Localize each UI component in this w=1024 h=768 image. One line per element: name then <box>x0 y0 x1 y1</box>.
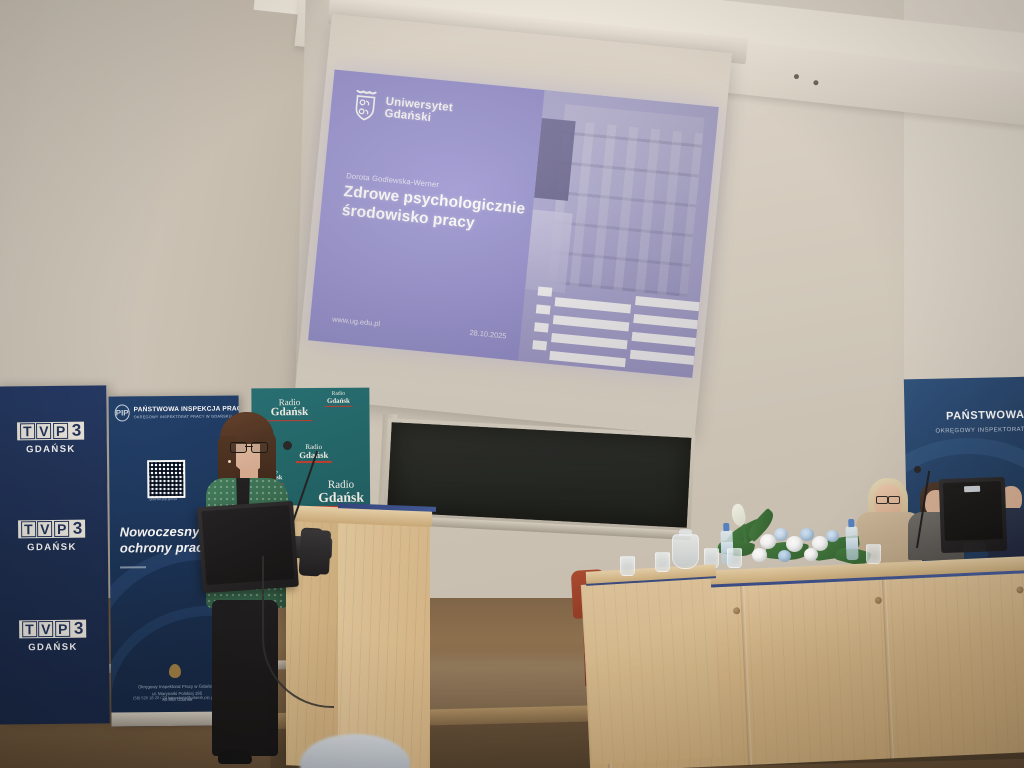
panel-microphone-head <box>914 466 921 473</box>
tvp3-logo: TVP3 GDAŃSK <box>17 422 85 456</box>
university-logo: Uniwersytet Gdański <box>352 90 454 130</box>
left-wall <box>0 0 330 420</box>
slide-title: Zdrowe psychologicznie środowisko pracy <box>341 183 554 240</box>
tvp3-logo: TVP3 GDAŃSK <box>19 620 87 654</box>
lecture-hall-photo: Uniwersytet Gdański Dorota Godlewska-Wer… <box>0 0 1024 768</box>
banner-tvp3-gdansk: TVP3 GDAŃSK TVP3 GDAŃSK TVP3 GDAŃSK <box>0 385 110 724</box>
slide-date: 28.10.2025 <box>469 328 507 341</box>
pip-seal-icon: PIP <box>115 404 130 421</box>
location-pin-icon <box>169 664 181 678</box>
tvp3-city-label: GDAŃSK <box>19 642 86 654</box>
drinking-glass <box>866 544 881 564</box>
tvp3-logo: TVP3 GDAŃSK <box>18 520 86 554</box>
presentation-slide: Uniwersytet Gdański Dorota Godlewska-Wer… <box>308 70 719 378</box>
pip-right-subtitle: OKRĘGOWY INSPEKTORAT <box>935 427 1024 435</box>
lectern-front-face <box>338 510 430 768</box>
qr-code-icon <box>147 460 185 498</box>
radio-gdansk-logo: Radio Gdańsk <box>319 392 357 407</box>
drinking-glass <box>655 552 670 572</box>
glasses-icon <box>230 442 268 451</box>
water-carafe <box>672 534 699 569</box>
university-logo-text: Uniwersytet Gdański <box>384 95 454 126</box>
tvp3-city-label: GDAŃSK <box>17 444 84 456</box>
drinking-glass <box>620 556 635 576</box>
water-bottle <box>845 526 858 560</box>
panel-monitor <box>939 477 1008 553</box>
slide-url: www.ug.edu.pl <box>332 315 381 329</box>
front-desk <box>586 568 716 764</box>
university-crest-icon <box>352 90 379 122</box>
projection-screen: Uniwersytet Gdański Dorota Godlewska-Wer… <box>294 14 732 436</box>
microphone-head-icon <box>283 441 292 450</box>
pip-qr-caption: gdansk.pip.gov.pl <box>149 497 177 501</box>
drinking-glass <box>727 548 742 568</box>
slide-stripe-decoration <box>518 285 710 375</box>
tvp3-city-label: GDAŃSK <box>18 542 85 554</box>
pip-right-title: PAŃSTWOWA <box>946 409 1024 423</box>
